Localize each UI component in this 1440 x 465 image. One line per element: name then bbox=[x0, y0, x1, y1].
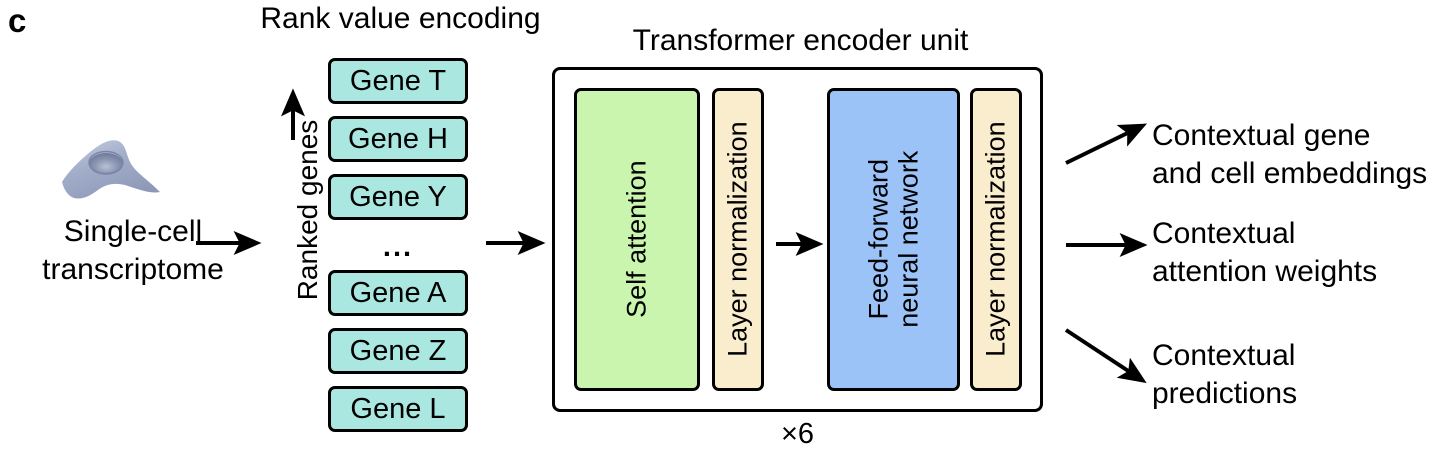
feed-forward-neural-network-block: Feed-forward neural network bbox=[827, 88, 960, 391]
output-label-line1: Contextual bbox=[1152, 337, 1440, 375]
rank-value-encoding-heading: Rank value encoding bbox=[258, 2, 543, 36]
arrow-output-predictions bbox=[1066, 330, 1142, 380]
gene-box: Gene T bbox=[328, 58, 468, 104]
transformer-encoder-unit-heading: Transformer encoder unit bbox=[628, 24, 973, 58]
feed-forward-label-line2: neural network bbox=[894, 151, 924, 328]
output-label-line1: Contextual gene bbox=[1152, 117, 1440, 155]
gene-box-label: Gene T bbox=[350, 67, 446, 96]
gene-box-label: Gene L bbox=[350, 395, 445, 424]
self-attention-label: Self attention bbox=[622, 161, 652, 319]
output-label-contextual-embeddings: Contextual gene and cell embeddings bbox=[1152, 117, 1440, 194]
output-label-contextual-predictions: Contextual predictions bbox=[1152, 337, 1440, 414]
layer-normalization-label: Layer normalization bbox=[981, 122, 1011, 358]
self-attention-block: Self attention bbox=[574, 88, 700, 391]
gene-box: Gene Z bbox=[328, 328, 468, 374]
gene-box: Gene L bbox=[328, 386, 468, 432]
single-cell-illustration bbox=[56, 128, 168, 210]
gene-box: Gene H bbox=[328, 116, 468, 162]
single-cell-transcriptome-label: Single-cell transcriptome bbox=[8, 213, 258, 290]
ranked-genes-axis-label: Ranked genes bbox=[294, 110, 322, 310]
output-label-attention-weights: Contextual attention weights bbox=[1152, 215, 1440, 292]
single-cell-label-line2: transcriptome bbox=[8, 251, 258, 289]
feed-forward-label-line1: Feed-forward bbox=[863, 159, 893, 320]
figure-panel-c: c Rank value encoding Transformer encode… bbox=[0, 0, 1440, 465]
output-label-line1: Contextual bbox=[1152, 215, 1440, 253]
layer-normalization-label: Layer normalization bbox=[723, 122, 753, 358]
output-label-line2: attention weights bbox=[1152, 253, 1440, 291]
feed-forward-label: Feed-forward neural network bbox=[863, 151, 923, 328]
encoder-repeat-count: ×6 bbox=[700, 420, 895, 449]
gene-box: Gene Y bbox=[328, 174, 468, 220]
arrow-output-embeddings bbox=[1066, 126, 1142, 163]
single-cell-label-line1: Single-cell bbox=[8, 213, 258, 251]
gene-list-ellipsis: ... bbox=[328, 227, 468, 267]
output-label-line2: and cell embeddings bbox=[1152, 155, 1440, 193]
gene-box-label: Gene Z bbox=[350, 337, 447, 366]
gene-box: Gene A bbox=[328, 270, 468, 316]
layer-normalization-block-2: Layer normalization bbox=[970, 88, 1022, 391]
gene-box-label: Gene A bbox=[350, 279, 447, 308]
layer-normalization-block-1: Layer normalization bbox=[712, 88, 764, 391]
gene-box-label: Gene Y bbox=[349, 183, 447, 212]
output-label-line2: predictions bbox=[1152, 375, 1440, 413]
gene-box-label: Gene H bbox=[348, 125, 448, 154]
panel-letter: c bbox=[8, 4, 26, 37]
